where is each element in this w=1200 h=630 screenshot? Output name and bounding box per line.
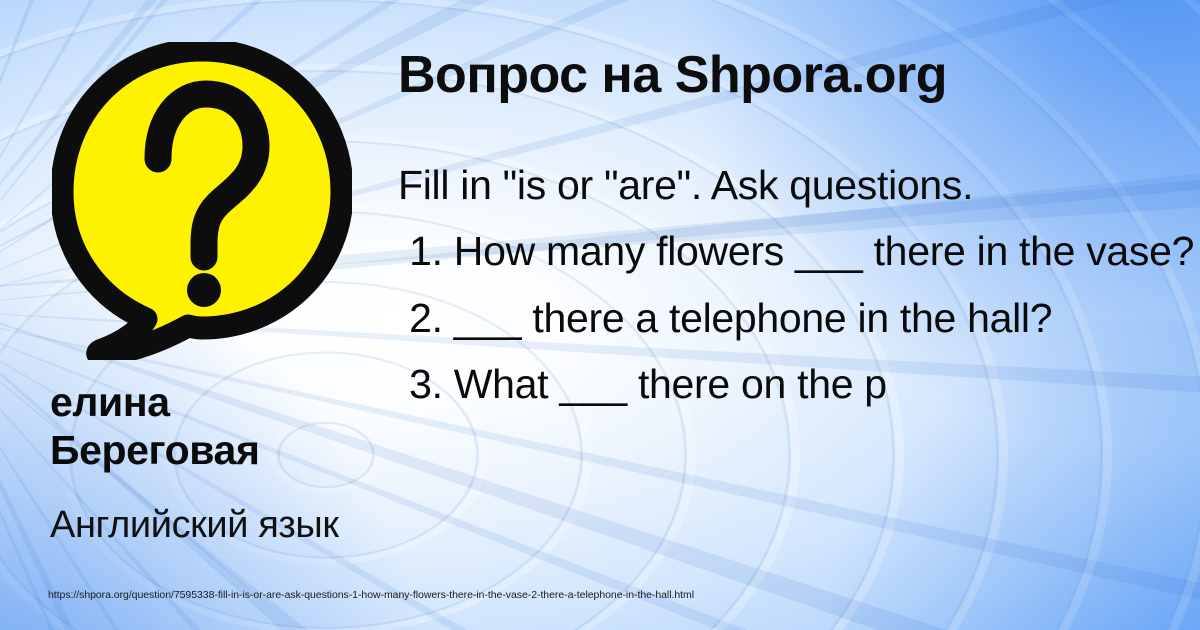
question-text: Fill in "is or "are". Ask questions. 1. … (398, 152, 1198, 418)
subject-label: Английский язык (50, 504, 480, 547)
shpora-question-card: Вопрос на Shpora.org Fill in "is or "are… (0, 0, 1200, 630)
source-url: https://shpora.org/question/7595338-fill… (48, 589, 694, 601)
card-content: Вопрос на Shpora.org Fill in "is or "are… (0, 0, 1200, 630)
question-speech-bubble-icon (52, 42, 352, 360)
author-name: елина Береговая (50, 378, 390, 475)
page-title: Вопрос на Shpora.org (398, 48, 1188, 103)
